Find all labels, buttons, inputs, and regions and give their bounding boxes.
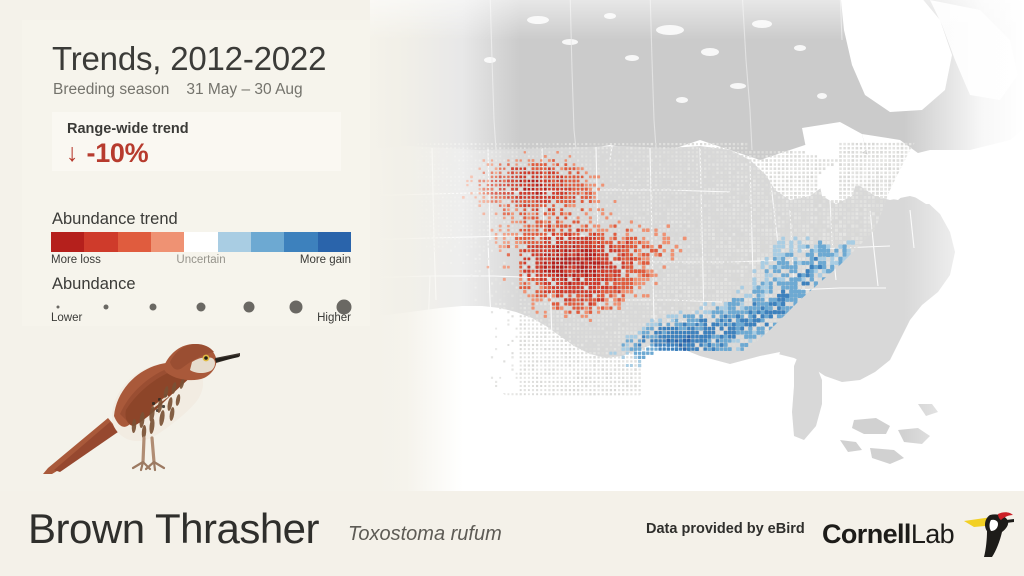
cornell-word: Cornell — [822, 519, 911, 549]
abundance-label-higher: Higher — [317, 312, 351, 324]
range-wide-trend-value: -10% — [87, 138, 149, 169]
ramp-swatch-8 — [318, 232, 351, 252]
dot-glyph — [243, 302, 254, 313]
cornell-lab-wordmark: CornellLab — [822, 519, 954, 550]
infographic-root: Trends, 2012-2022 Breeding season 31 May… — [0, 0, 1024, 576]
data-credit-brand: eBird — [768, 521, 805, 537]
dot-glyph — [103, 305, 108, 310]
map-svg — [370, 0, 1024, 495]
abundance-trend-color-ramp — [51, 232, 351, 252]
woodpecker-icon — [962, 507, 1014, 559]
season-subtitle: Breeding season 31 May – 30 Aug — [53, 81, 303, 99]
down-arrow-icon: ↓ — [66, 141, 79, 166]
abundance-heading: Abundance — [52, 275, 136, 294]
dot-glyph — [57, 306, 60, 309]
legend-panel: Trends, 2012-2022 Breeding season 31 May… — [22, 20, 370, 326]
ramp-swatch-0 — [51, 232, 84, 252]
ramp-swatch-5 — [218, 232, 251, 252]
brown-thrasher-illustration — [40, 322, 240, 492]
abundance-dot-2 — [150, 304, 157, 311]
abundance-dot-3 — [197, 303, 206, 312]
season-label: Breeding season — [53, 81, 169, 99]
ramp-swatch-2 — [118, 232, 151, 252]
species-common-name: Brown Thrasher — [28, 505, 319, 553]
data-credit: Data provided by eBird — [646, 521, 805, 537]
data-credit-prefix: Data provided by — [646, 521, 768, 537]
dot-glyph — [150, 304, 157, 311]
page-title: Trends, 2012-2022 — [52, 40, 326, 78]
range-wide-trend-label: Range-wide trend — [67, 121, 189, 137]
bird-svg — [40, 322, 240, 492]
ramp-label-uncertain: Uncertain — [176, 254, 225, 266]
dot-glyph — [197, 303, 206, 312]
range-wide-trend-card: Range-wide trend ↓ -10% — [52, 112, 341, 171]
color-ramp-labels: More loss Uncertain More gain — [51, 254, 351, 268]
season-dates: 31 May – 30 Aug — [186, 81, 302, 99]
ramp-swatch-4 — [184, 232, 217, 252]
abundance-dot-1 — [103, 305, 108, 310]
abundance-trend-map[interactable] — [370, 0, 1024, 495]
ramp-label-more-gain: More gain — [300, 254, 351, 266]
abundance-trend-heading: Abundance trend — [52, 210, 178, 229]
ramp-swatch-1 — [84, 232, 117, 252]
ramp-swatch-7 — [284, 232, 317, 252]
range-wide-trend-value-row: ↓ -10% — [66, 138, 148, 169]
ramp-swatch-6 — [251, 232, 284, 252]
cornell-lab-logo[interactable]: CornellLab — [822, 505, 1012, 563]
lab-word: Lab — [911, 519, 954, 549]
abundance-dot-4 — [243, 302, 254, 313]
species-scientific-name: Toxostoma rufum — [348, 523, 502, 546]
abundance-dot-0 — [57, 306, 60, 309]
ramp-swatch-3 — [151, 232, 184, 252]
ramp-label-more-loss: More loss — [51, 254, 101, 266]
